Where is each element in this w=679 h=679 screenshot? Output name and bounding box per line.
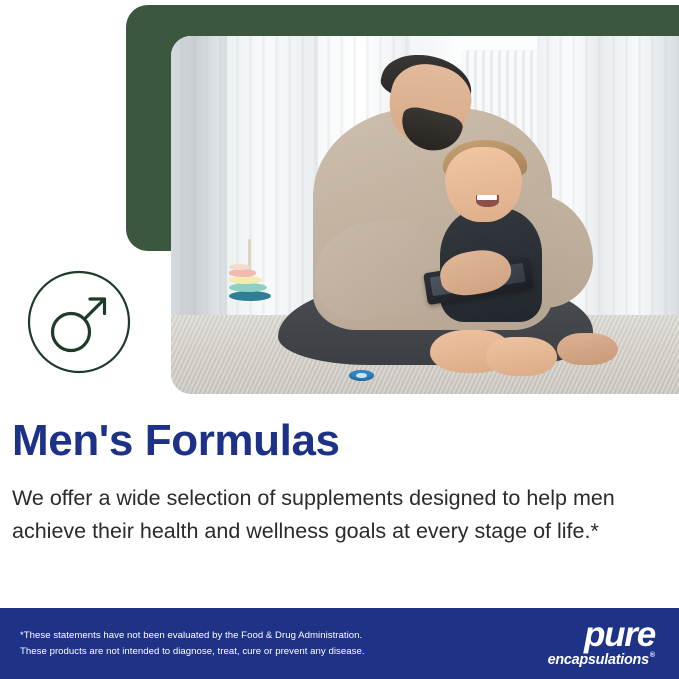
photo-man-foot <box>557 333 618 365</box>
disclaimer-line-2: These products are not intended to diagn… <box>20 644 365 660</box>
photo-curtain <box>603 36 679 330</box>
disclaimer-text: *These statements have not been evaluate… <box>20 628 365 659</box>
page-title: Men's Formulas <box>12 418 662 464</box>
photo-child-leg <box>486 337 557 376</box>
hero-photo <box>171 36 679 394</box>
brand-name-secondary-row: encapsulations ® <box>548 651 655 667</box>
pure-encapsulations-logo: pure encapsulations ® <box>548 619 657 668</box>
toy-ring <box>229 269 256 276</box>
photo-stacking-ring-toy <box>227 233 273 326</box>
page-root: Men's Formulas We offer a wide selection… <box>0 0 679 679</box>
footer-bar: *These statements have not been evaluate… <box>0 608 679 679</box>
brand-name-secondary: encapsulations <box>548 653 649 667</box>
toy-ring <box>229 264 250 271</box>
photo-child-smile <box>476 195 499 206</box>
registered-trademark-icon: ® <box>650 652 655 659</box>
photo-child-head <box>445 147 521 222</box>
content-text-block: Men's Formulas We offer a wide selection… <box>12 418 662 548</box>
toy-ring <box>229 291 271 301</box>
toy-ring <box>229 276 262 284</box>
disclaimer-line-1: *These statements have not been evaluate… <box>20 628 365 644</box>
male-gender-symbol-icon <box>26 269 132 375</box>
page-subtitle: We offer a wide selection of supplements… <box>12 482 634 547</box>
brand-name-primary: pure <box>584 619 655 651</box>
